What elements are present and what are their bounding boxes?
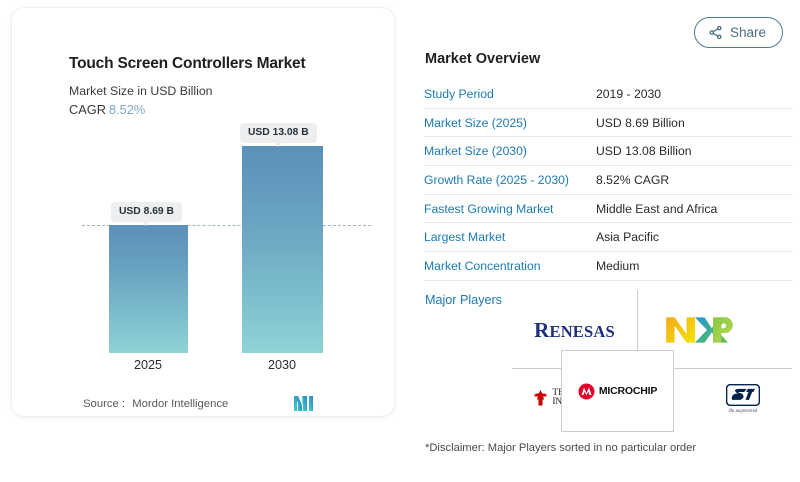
logo-nxp: NXP bbox=[638, 304, 763, 356]
logo-renesas: RRENESASENESAS bbox=[512, 304, 637, 356]
bar-label-2025: USD 8.69 B bbox=[111, 202, 182, 222]
page-card: Share Touch Screen Controllers Market Ma… bbox=[0, 0, 800, 482]
chart-title: Touch Screen Controllers Market bbox=[69, 55, 305, 73]
bar-chart-plot: USD 8.69 B USD 13.08 B 2025 2030 bbox=[69, 128, 369, 368]
table-row: Market Size (2030) USD 13.08 Billion bbox=[424, 137, 793, 166]
table-row: Growth Rate (2025 - 2030) 8.52% CAGR bbox=[424, 166, 793, 195]
row-label: Market Size (2030) bbox=[424, 144, 596, 158]
table-row: Market Concentration Medium bbox=[424, 252, 793, 281]
bar-label-2030: USD 13.08 B bbox=[240, 123, 317, 143]
major-players-disclaimer: *Disclaimer: Major Players sorted in no … bbox=[425, 442, 696, 454]
major-players-logo-grid: RRENESASENESAS bbox=[512, 290, 792, 432]
chart-cagr: CAGR8.52% bbox=[69, 102, 145, 117]
bar-2025[interactable] bbox=[109, 225, 188, 353]
st-mark-icon bbox=[726, 384, 760, 406]
table-row: Fastest Growing Market Middle East and A… bbox=[424, 195, 793, 224]
major-players-title: Major Players bbox=[425, 293, 502, 307]
chart-subtitle: Market Size in USD Billion bbox=[69, 84, 213, 98]
row-value: USD 13.08 Billion bbox=[596, 144, 692, 158]
cagr-label: CAGR bbox=[69, 102, 106, 117]
row-label: Market Concentration bbox=[424, 259, 596, 273]
cagr-value: 8.52% bbox=[109, 102, 145, 117]
mordor-intelligence-logo bbox=[293, 395, 317, 412]
nxp-mark bbox=[665, 315, 737, 345]
x-tick-2025: 2025 bbox=[98, 358, 198, 372]
x-tick-2030: 2030 bbox=[232, 358, 332, 372]
table-row: Largest Market Asia Pacific bbox=[424, 223, 793, 252]
row-value: 8.52% CAGR bbox=[596, 173, 669, 187]
source-name: Mordor Intelligence bbox=[132, 398, 228, 410]
logo-microchip: MICROCHIP bbox=[561, 350, 674, 432]
row-label: Study Period bbox=[424, 87, 596, 101]
st-tagline: life.augmented bbox=[729, 408, 758, 413]
bar-2030[interactable] bbox=[242, 146, 323, 353]
microchip-label: MICROCHIP bbox=[599, 385, 657, 397]
row-value: USD 8.69 Billion bbox=[596, 116, 685, 130]
chart-card: Touch Screen Controllers Market Market S… bbox=[12, 8, 394, 416]
market-overview-panel: Market Overview Study Period 2019 - 2030… bbox=[424, 0, 800, 482]
row-value: Asia Pacific bbox=[596, 230, 659, 244]
row-label: Largest Market bbox=[424, 230, 596, 244]
microchip-mark-icon bbox=[578, 383, 595, 400]
table-row: Market Size (2025) USD 8.69 Billion bbox=[424, 109, 793, 138]
row-label: Growth Rate (2025 - 2030) bbox=[424, 173, 596, 187]
row-label: Fastest Growing Market bbox=[424, 202, 596, 216]
overview-title: Market Overview bbox=[425, 51, 540, 67]
overview-table: Study Period 2019 - 2030 Market Size (20… bbox=[424, 80, 793, 281]
row-value: Medium bbox=[596, 259, 639, 273]
source-label: Source : bbox=[83, 398, 125, 410]
chart-source: Source : Mordor Intelligence bbox=[83, 398, 228, 410]
table-row: Study Period 2019 - 2030 bbox=[424, 80, 793, 109]
logo-stmicroelectronics: life.augmented bbox=[698, 374, 788, 422]
row-value: Middle East and Africa bbox=[596, 202, 717, 216]
row-label: Market Size (2025) bbox=[424, 116, 596, 130]
ti-star-icon bbox=[533, 390, 548, 407]
row-value: 2019 - 2030 bbox=[596, 87, 661, 101]
